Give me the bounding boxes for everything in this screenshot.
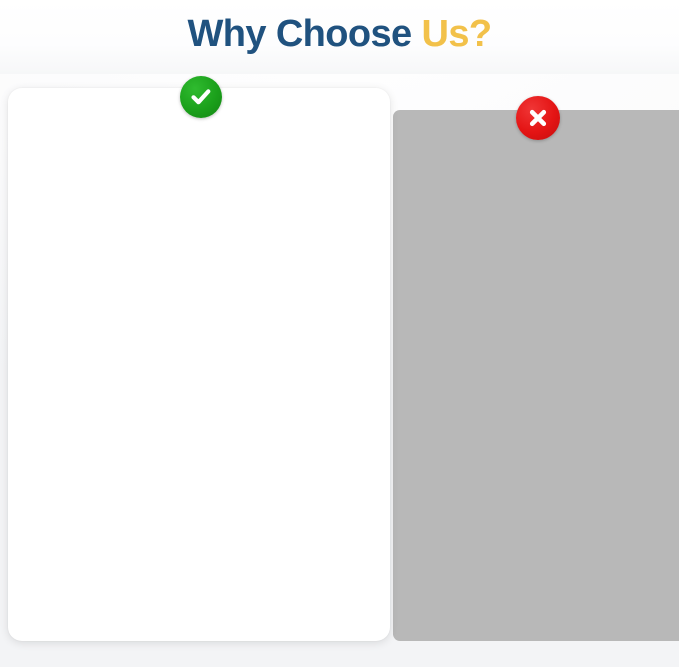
pros-card	[8, 88, 390, 641]
check-circle-icon	[180, 76, 222, 118]
comparison-columns: 260G Deluxe Olefin Precision stitching o…	[0, 0, 679, 667]
cons-panel	[393, 110, 679, 641]
x-circle-icon	[516, 96, 560, 140]
title-accent-text: Us?	[422, 13, 492, 55]
page-title: Why Choose Us?	[0, 11, 679, 57]
title-main-text: Why Choose	[187, 13, 421, 55]
